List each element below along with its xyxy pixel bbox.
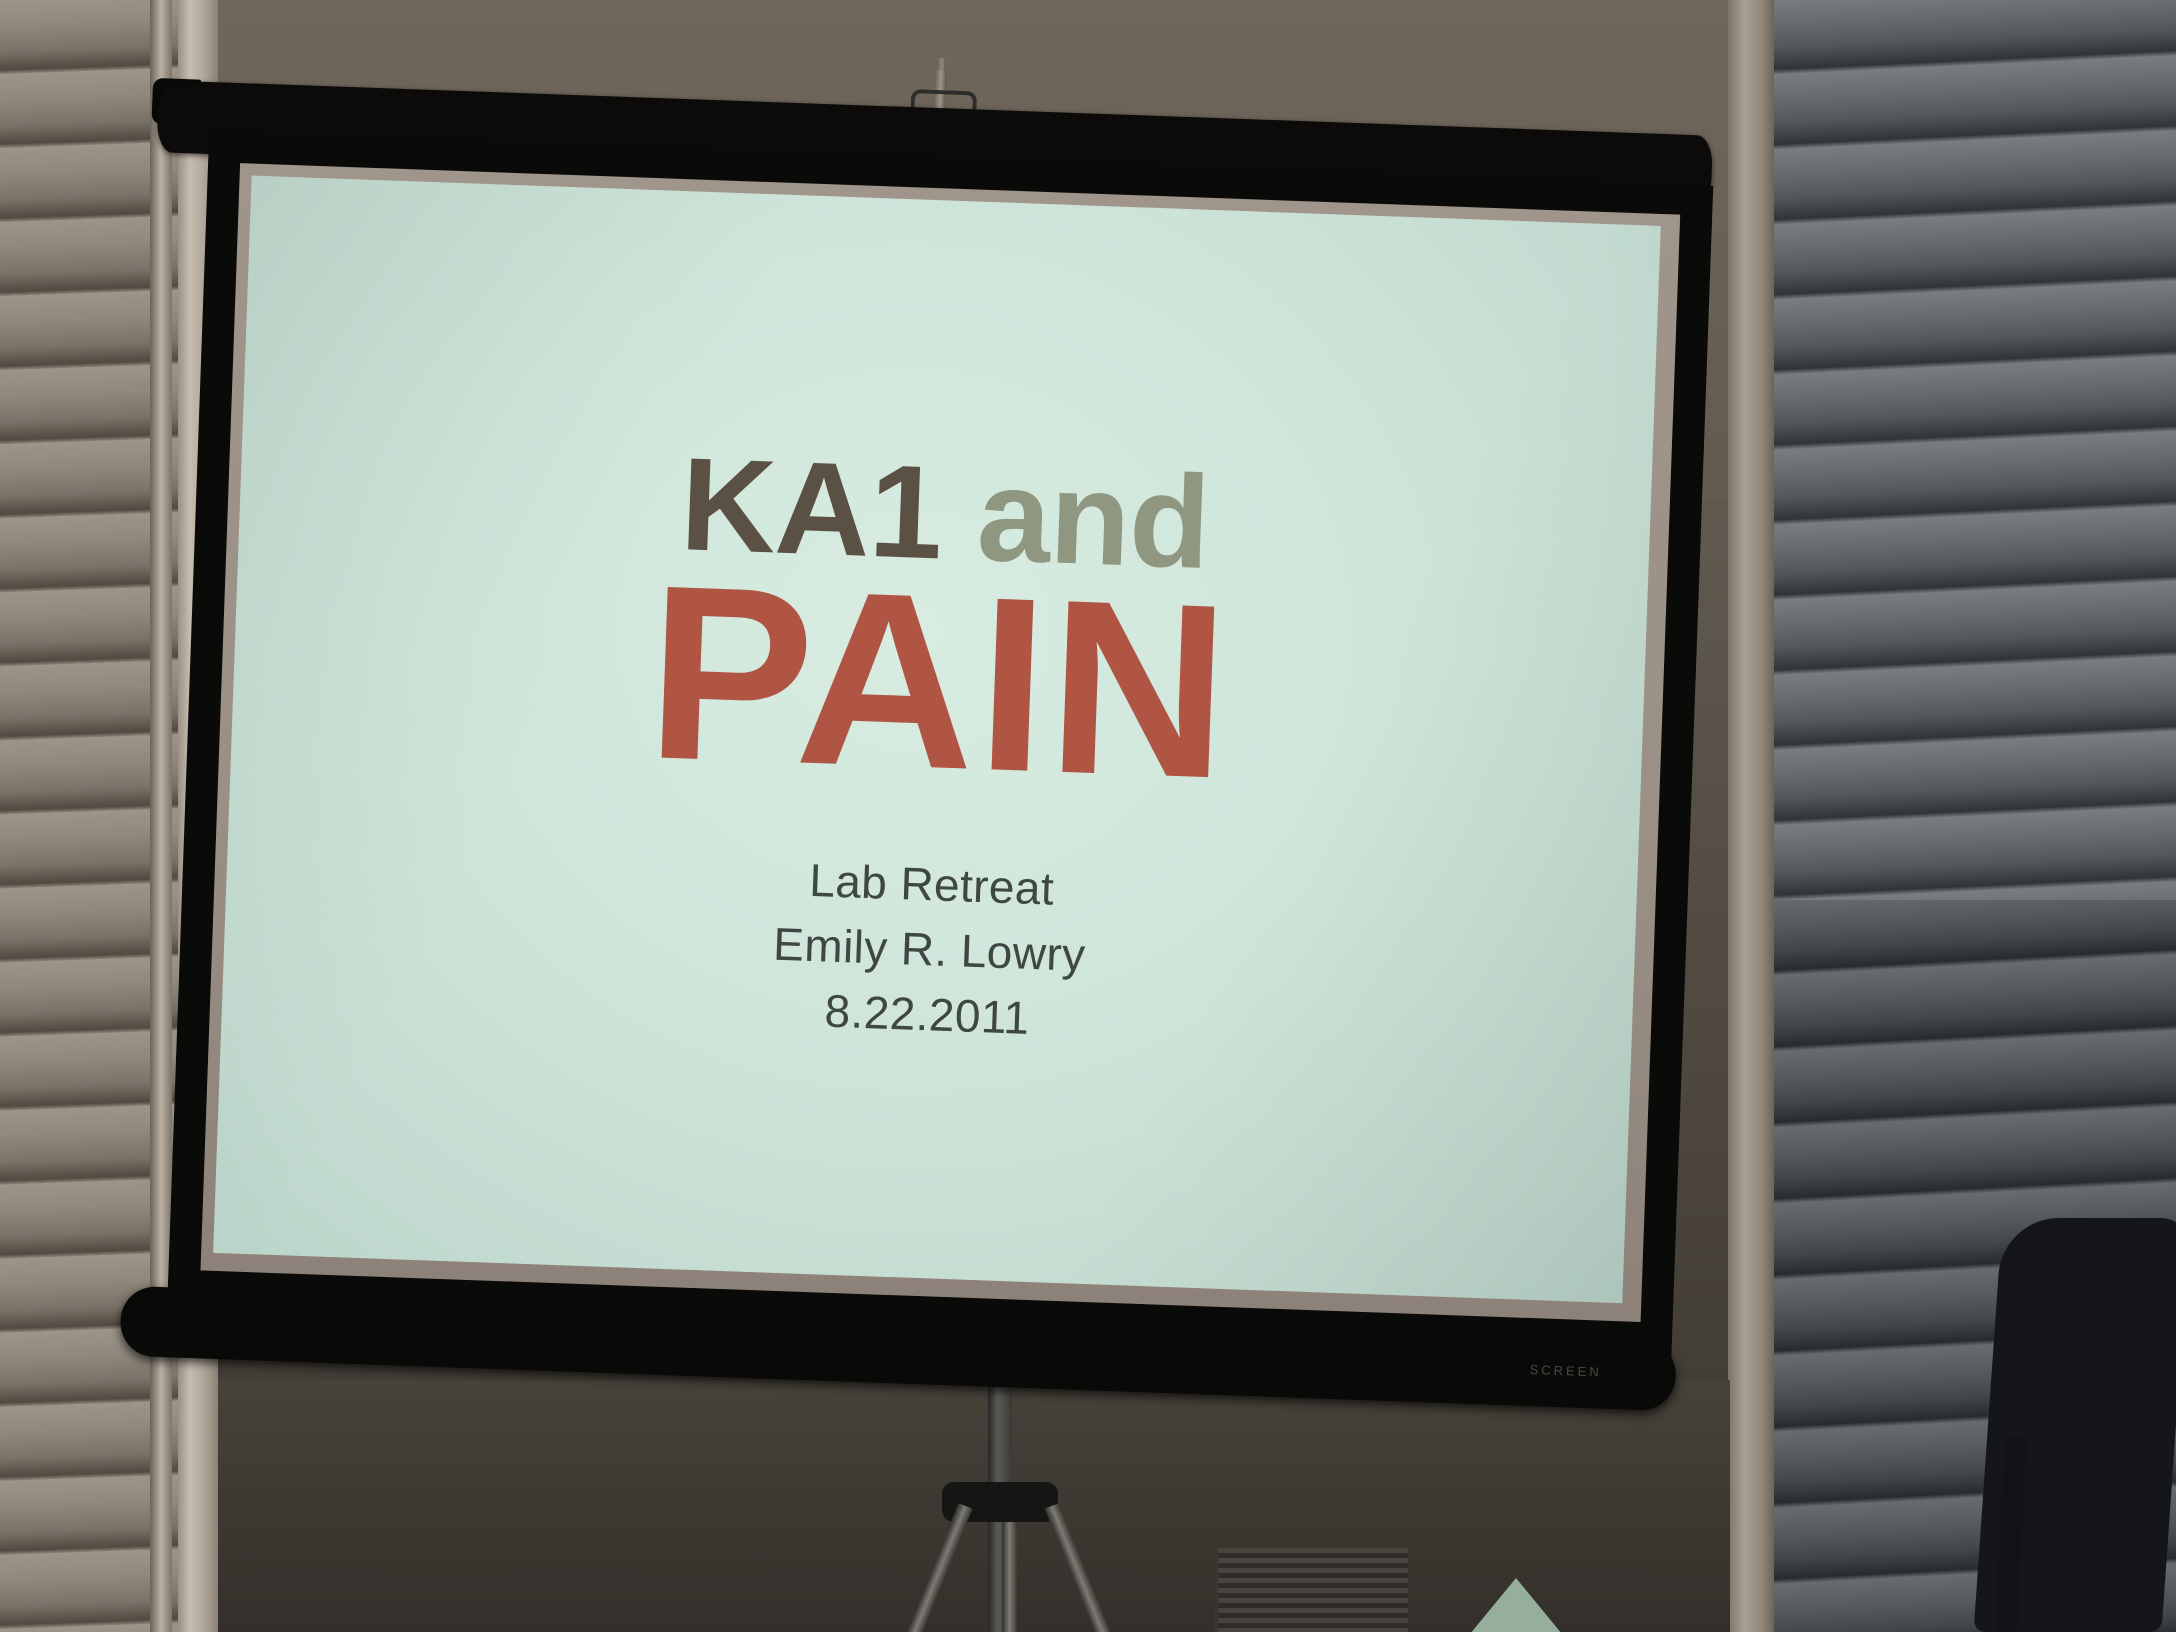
screen-brand-label: SCREEN (1529, 1362, 1602, 1380)
window-trim-left-inner (150, 0, 172, 1632)
screen-fabric: KA1 and PAIN Lab Retreat Emily R. Lowry … (200, 163, 1680, 1322)
slide-subtitle-block: Lab Retreat Emily R. Lowry 8.22.2011 (770, 846, 1089, 1053)
subtitle-line-author: Emily R. Lowry (772, 912, 1086, 988)
photo-scene: KA1 and PAIN Lab Retreat Emily R. Lowry … (0, 0, 2176, 1632)
wall-vent-grille (1215, 1548, 1408, 1632)
tripod-leg-center (1002, 1506, 1017, 1632)
window-trim-right (1728, 0, 1774, 1632)
green-triangular-object (1470, 1578, 1562, 1632)
presentation-slide: KA1 and PAIN Lab Retreat Emily R. Lowry … (213, 176, 1661, 1304)
screen-black-border: KA1 and PAIN Lab Retreat Emily R. Lowry … (167, 132, 1713, 1357)
projection-screen-assembly: KA1 and PAIN Lab Retreat Emily R. Lowry … (165, 110, 1714, 1413)
subtitle-line-event: Lab Retreat (775, 846, 1089, 922)
projected-slide-area: KA1 and PAIN Lab Retreat Emily R. Lowry … (213, 176, 1661, 1304)
subtitle-line-date: 8.22.2011 (770, 977, 1084, 1053)
slide-title-block: KA1 and PAIN (230, 427, 1651, 821)
